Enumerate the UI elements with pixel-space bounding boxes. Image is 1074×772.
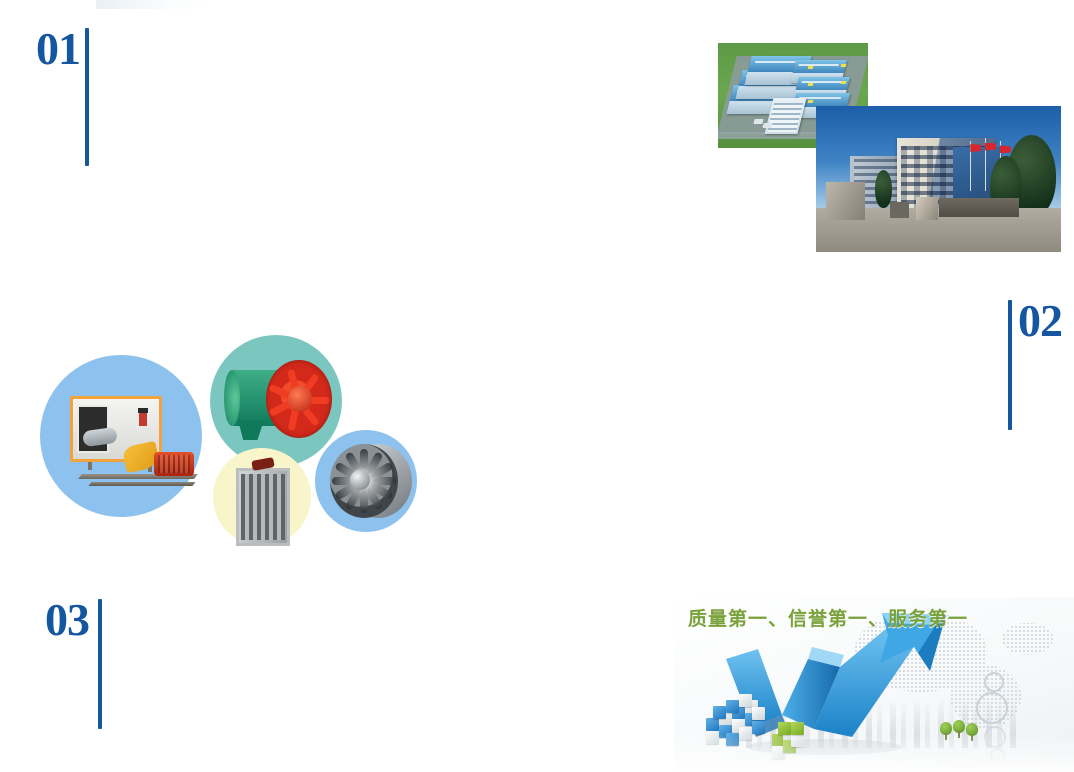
rendering-marker [808, 66, 814, 69]
section-rule-02 [1008, 300, 1012, 430]
section-number-02: 02 [1018, 298, 1062, 344]
photo-gate-house [826, 182, 865, 220]
business-growth-chart: 质量第一、信誉第一、服务第一 [674, 597, 1074, 772]
photo-planter [890, 202, 910, 218]
section-rule-03 [98, 599, 102, 729]
page-canvas: 01 02 03 [0, 0, 1074, 772]
axial-fan-mount-foot [238, 420, 264, 440]
red-flag-icon [1000, 145, 1011, 153]
product-image-box-type-centrifugal-fan [62, 390, 197, 495]
rendering-marker [808, 100, 814, 103]
fan-inlet-opening [77, 405, 109, 453]
red-flag-icon [985, 143, 996, 151]
fan-base-rail [88, 482, 195, 486]
growth-chart-tagline: 质量第一、信誉第一、服务第一 [688, 604, 968, 631]
top-edge-artifact [96, 0, 216, 9]
product-showcase-group [30, 330, 430, 555]
damper-blades [241, 474, 285, 540]
floor-reflection [674, 734, 1074, 772]
section-marker-03: 03 [45, 597, 102, 729]
fan-control-panel-top [138, 408, 148, 413]
product-image-air-damper [236, 468, 290, 546]
fan-impeller [82, 427, 118, 448]
rendering-marker [841, 81, 847, 84]
section-marker-01: 01 [36, 26, 89, 166]
rendering-vehicle [753, 119, 763, 124]
section-number-03: 03 [45, 597, 89, 643]
axial-fan-hub [288, 386, 312, 412]
rendering-marker [841, 64, 847, 67]
product-image-silver-axial-impeller [326, 440, 414, 522]
red-flag-icon [970, 144, 981, 152]
section-rule-01 [85, 28, 89, 166]
photo-screen-wall [939, 198, 1020, 217]
impeller-hub [350, 470, 370, 490]
rendering-vehicle [762, 123, 772, 128]
product-image-axial-flow-fan [226, 356, 332, 448]
section-marker-02: 02 [1008, 298, 1062, 430]
office-building-photo [816, 106, 1061, 252]
rendering-marker [808, 83, 814, 86]
photo-kiosk [916, 197, 938, 220]
section-number-01: 01 [36, 26, 80, 72]
fan-motor [154, 452, 194, 476]
